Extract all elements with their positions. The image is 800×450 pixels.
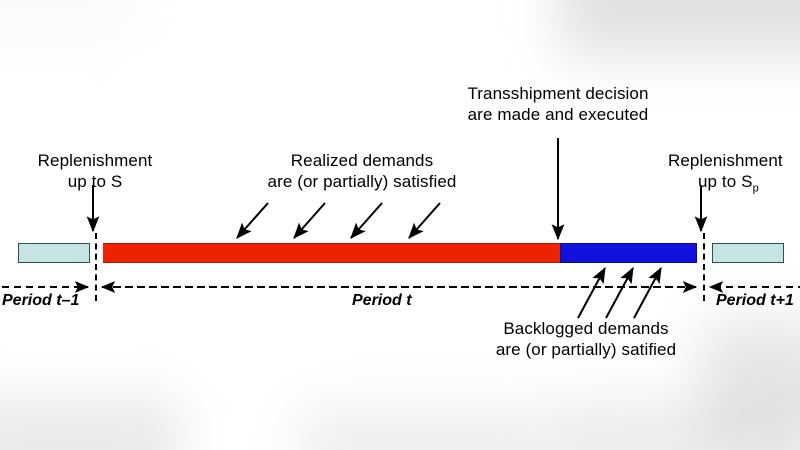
period-label-t-minus-1: Period t–1 [2,292,79,310]
realized-demand-arrows [237,203,440,238]
background-blur-bottom-right [560,400,800,450]
realized-demands-line1: Realized demands [228,150,496,171]
realized-demands-line2: are (or partially) satisfied [228,171,496,192]
replenishment-right-line1: Replenishment [668,150,800,171]
period-label-t: Period t [352,292,412,310]
background-blur-right [700,320,800,440]
backlogged-demands-line2: are (or partially) satified [462,339,710,360]
transshipment-line1: Transshipment decision [424,83,692,104]
period-label-t-plus-1: Period t+1 [716,292,794,310]
arrow-overlay [0,0,800,450]
period-t-minus-1-box [18,243,90,263]
replenishment-right-line2-text: up to S [698,172,753,191]
background-blur-top-right [560,0,800,55]
background-blur-bottom-left [0,398,180,450]
diagram-canvas: Replenishment up to S Realized demands a… [0,0,800,450]
realized-demand-segment [103,243,560,263]
period-divider-left [95,233,97,301]
replenishment-right-subscript: p [753,182,759,194]
transshipment-label: Transshipment decision are made and exec… [424,83,692,125]
backlogged-demand-segment [560,243,697,263]
realized-demands-label: Realized demands are (or partially) sati… [228,150,496,192]
replenishment-right-label: Replenishment up to Sp [668,150,800,199]
background-blur-bottom-middle [300,408,560,450]
period-divider-right [703,233,705,301]
backlogged-demands-line1: Backlogged demands [462,318,710,339]
replenishment-left-label: Replenishment up to S [20,150,170,192]
replenishment-left-line1: Replenishment [20,150,170,171]
transshipment-line2: are made and executed [424,104,692,125]
period-t-plus-1-box [712,243,784,263]
background-blur-top-left [0,0,130,40]
backlogged-demands-label: Backlogged demands are (or partially) sa… [462,318,710,360]
replenishment-left-line2: up to S [20,171,170,192]
backlogged-demand-arrows [578,268,661,318]
replenishment-right-line2: up to Sp [668,171,800,199]
